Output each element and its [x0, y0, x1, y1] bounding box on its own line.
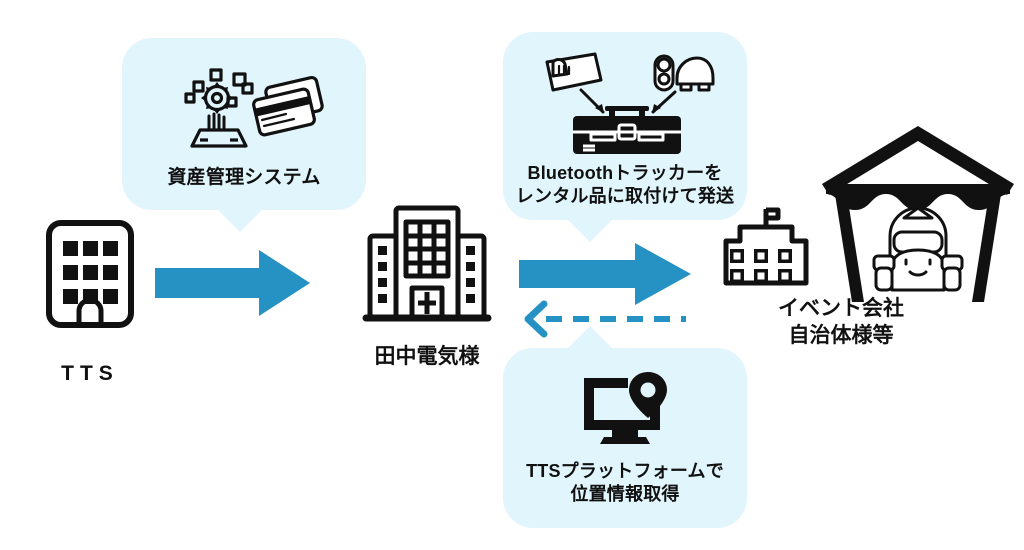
node-customers-label: イベント会社 自治体様等 [706, 295, 976, 350]
node-tanaka-label: 田中電気様 [342, 343, 512, 370]
civic-building-icon [720, 205, 812, 292]
arrow-customers-to-tanaka [518, 300, 688, 343]
card-bluetooth-tracker-label: Bluetoothトラッカーを レンタル品に取付けて発送 [503, 162, 747, 208]
node-tanaka: 田中電気様 [342, 200, 512, 370]
event-tent-icon [818, 120, 1018, 315]
asset-management-icon [122, 60, 366, 152]
card-bluetooth-tracker-tail [568, 220, 612, 242]
office-tower-icon [342, 200, 512, 335]
arrow-tts-to-tanaka [155, 250, 310, 321]
card-asset-management-tail [218, 210, 262, 232]
card-tts-platform: TTSプラットフォームで 位置情報取得 [503, 348, 747, 528]
card-tts-platform-label: TTSプラットフォームで 位置情報取得 [503, 460, 747, 506]
monitor-location-icon [503, 370, 747, 450]
node-tts-label: TTS [20, 360, 160, 387]
diagram-canvas: 資産管理システム [0, 0, 1024, 550]
briefcase-packing-icon [503, 46, 747, 156]
node-tts: TTS [20, 215, 160, 387]
office-building-icon [20, 215, 160, 338]
card-bluetooth-tracker: Bluetoothトラッカーを レンタル品に取付けて発送 [503, 32, 747, 220]
card-asset-management-label: 資産管理システム [122, 166, 366, 190]
card-asset-management: 資産管理システム [122, 38, 366, 210]
